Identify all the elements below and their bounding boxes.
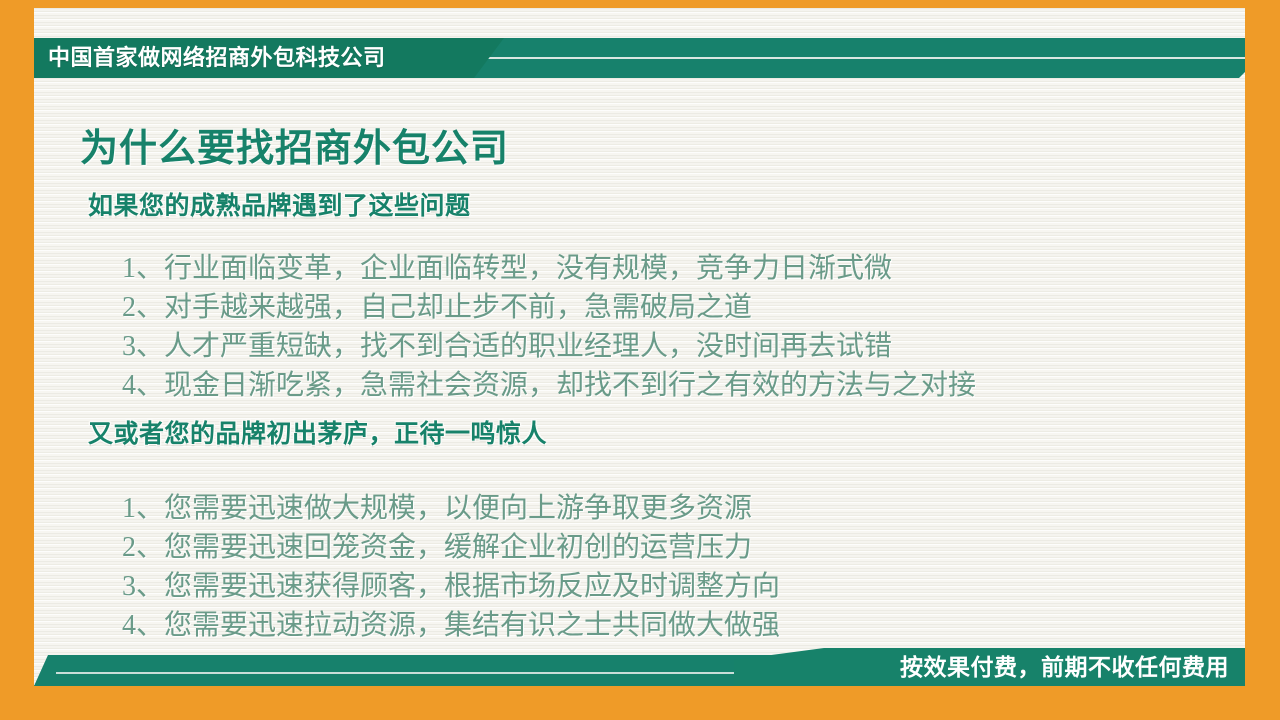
- section-2-list: 1、您需要迅速做大规模，以便向上游争取更多资源 2、您需要迅速回笼资金，缓解企业…: [82, 489, 780, 645]
- page-title: 为什么要找招商外包公司: [80, 117, 509, 172]
- footer-tagline-text: 按效果付费，前期不收任何费用: [900, 648, 1229, 686]
- section-1-subheading: 如果您的成熟品牌遇到了这些问题: [88, 186, 471, 222]
- header-banner: 中国首家做网络招商外包科技公司: [34, 38, 1245, 78]
- footer-tagline-block: 按效果付费，前期不收任何费用: [734, 648, 1245, 686]
- main-content: 为什么要找招商外包公司 如果您的成熟品牌遇到了这些问题 1、行业面临变革，企业面…: [34, 78, 1245, 638]
- list-item: 2、对手越来越强，自己却止步不前，急需破局之道: [122, 288, 976, 327]
- list-item: 2、您需要迅速回笼资金，缓解企业初创的运营压力: [122, 528, 780, 567]
- list-item: 3、人才严重短缺，找不到合适的职业经理人，没时间再去试错: [122, 327, 976, 366]
- list-item: 1、行业面临变革，企业面临转型，没有规模，竞争力日渐式微: [122, 249, 976, 288]
- footer-divider-line: [56, 672, 746, 674]
- header-label-block: 中国首家做网络招商外包科技公司: [34, 38, 504, 78]
- footer-banner: 按效果付费，前期不收任何费用: [34, 648, 1245, 690]
- list-item: 1、您需要迅速做大规模，以便向上游争取更多资源: [122, 489, 780, 528]
- section-2-subheading: 又或者您的品牌初出茅庐，正待一鸣惊人: [88, 414, 547, 450]
- section-1-list: 1、行业面临变革，企业面临转型，没有规模，竞争力日渐式微 2、对手越来越强，自己…: [82, 249, 976, 405]
- list-item: 4、您需要迅速拉动资源，集结有识之士共同做大做强: [122, 606, 780, 645]
- header-banner-text: 中国首家做网络招商外包科技公司: [48, 38, 386, 78]
- list-item: 4、现金日渐吃紧，急需社会资源，却找不到行之有效的方法与之对接: [122, 366, 976, 405]
- list-item: 3、您需要迅速获得顾客，根据市场反应及时调整方向: [122, 567, 780, 606]
- header-divider-line: [464, 57, 1245, 59]
- slide: 中国首家做网络招商外包科技公司 为什么要找招商外包公司 如果您的成熟品牌遇到了这…: [0, 0, 1280, 720]
